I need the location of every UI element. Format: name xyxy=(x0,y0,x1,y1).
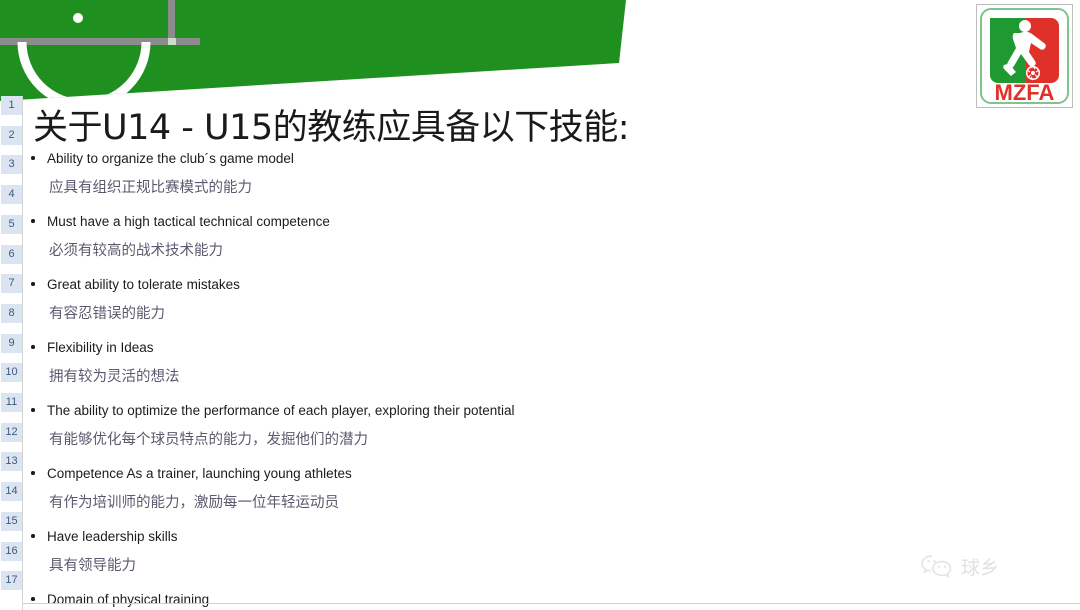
bullet-dot-icon xyxy=(31,408,35,412)
row-header-cell[interactable]: 8 xyxy=(1,304,22,323)
row-header-cell[interactable]: 16 xyxy=(1,542,22,561)
row-header-cell[interactable]: 2 xyxy=(1,126,22,145)
slide-canvas: 1234567891011121314151617 关于U14 - U15的教练… xyxy=(0,0,1080,610)
bullet-group: Ability to organize the club´s game mode… xyxy=(28,148,928,199)
row-header-cell[interactable]: 17 xyxy=(1,571,22,590)
bullet-group: Great ability to tolerate mistakes有容忍错误的… xyxy=(28,274,928,325)
row-header-cell[interactable]: 5 xyxy=(1,215,22,234)
bullet-list: Ability to organize the club´s game mode… xyxy=(28,148,928,610)
bullet-text-cn: 具有领导能力 xyxy=(28,555,928,577)
bullet-dot-icon xyxy=(31,282,35,286)
row-header-cell[interactable]: 15 xyxy=(1,512,22,531)
row-header-cell[interactable]: 9 xyxy=(1,334,22,353)
row-number-gutter[interactable]: 1234567891011121314151617 xyxy=(0,96,23,610)
bullet-text-en: The ability to optimize the performance … xyxy=(28,400,928,422)
bullet-dot-icon xyxy=(31,471,35,475)
bullet-text-cn: 有容忍错误的能力 xyxy=(28,303,928,325)
row-header-cell[interactable]: 14 xyxy=(1,482,22,501)
bullet-text-cn: 应具有组织正规比赛模式的能力 xyxy=(28,177,928,199)
bullet-text-en: Great ability to tolerate mistakes xyxy=(28,274,928,296)
bullet-text-en: Have leadership skills xyxy=(28,526,928,548)
bullet-text-en: Must have a high tactical technical comp… xyxy=(28,211,928,233)
bullet-dot-icon xyxy=(31,534,35,538)
row-header-cell[interactable]: 7 xyxy=(1,274,22,293)
bullet-en-label: Competence As a trainer, launching young… xyxy=(47,466,352,481)
bullet-text-en: Domain of physical training xyxy=(28,589,928,610)
pitch-banner xyxy=(0,0,640,104)
bullet-en-label: Have leadership skills xyxy=(47,529,178,544)
bullet-group: Flexibility in Ideas拥有较为灵活的想法 xyxy=(28,337,928,388)
bullet-group: Competence As a trainer, launching young… xyxy=(28,463,928,514)
bullet-en-label: Great ability to tolerate mistakes xyxy=(47,277,240,292)
bullet-text-en: Ability to organize the club´s game mode… xyxy=(28,148,928,170)
bullet-text-cn: 必须有较高的战术技术能力 xyxy=(28,240,928,262)
bullet-text-cn: 有作为培训师的能力，激励每一位年轻运动员 xyxy=(28,492,928,514)
pitch-banner-graphic xyxy=(0,0,640,104)
bullet-text-en: Competence As a trainer, launching young… xyxy=(28,463,928,485)
page-title: 关于U14 - U15的教练应具备以下技能: xyxy=(33,99,793,150)
bullet-group: Have leadership skills具有领导能力 xyxy=(28,526,928,577)
mzfa-logo-graphic: MZFA xyxy=(976,4,1073,108)
bullet-group: The ability to optimize the performance … xyxy=(28,400,928,451)
row-header-cell[interactable]: 10 xyxy=(1,363,22,382)
row-header-cell[interactable]: 1 xyxy=(1,96,22,115)
bullet-dot-icon xyxy=(31,156,35,160)
watermark-label: 球乡 xyxy=(961,553,999,580)
wechat-watermark: 球乡 xyxy=(920,548,1060,584)
row-header-cell[interactable]: 3 xyxy=(1,155,22,174)
bullet-en-label: Must have a high tactical technical comp… xyxy=(47,214,330,229)
row-header-cell[interactable]: 12 xyxy=(1,423,22,442)
mzfa-wordmark: MZFA xyxy=(995,80,1055,105)
bullet-group: Must have a high tactical technical comp… xyxy=(28,211,928,262)
row-header-cell[interactable]: 6 xyxy=(1,245,22,264)
bottom-rule xyxy=(23,603,1080,604)
bullet-en-label: Domain of physical training xyxy=(47,592,209,607)
bullet-en-label: Flexibility in Ideas xyxy=(47,340,154,355)
bullet-group: Domain of physical training拥有带领体能训练的能力 xyxy=(28,589,928,610)
bullet-dot-icon xyxy=(31,345,35,349)
bullet-text-cn: 拥有较为灵活的想法 xyxy=(28,366,928,388)
bullet-en-label: Ability to organize the club´s game mode… xyxy=(47,151,294,166)
row-header-cell[interactable]: 4 xyxy=(1,185,22,204)
wechat-icon xyxy=(920,553,954,579)
row-header-cell[interactable]: 11 xyxy=(1,393,22,412)
bullet-text-en: Flexibility in Ideas xyxy=(28,337,928,359)
bullet-en-label: The ability to optimize the performance … xyxy=(47,403,515,418)
row-header-cell[interactable]: 13 xyxy=(1,452,22,471)
bullet-dot-icon xyxy=(31,597,35,601)
mzfa-logo: MZFA xyxy=(976,4,1073,108)
bullet-text-cn: 有能够优化每个球员特点的能力，发掘他们的潜力 xyxy=(28,429,928,451)
bullet-dot-icon xyxy=(31,219,35,223)
